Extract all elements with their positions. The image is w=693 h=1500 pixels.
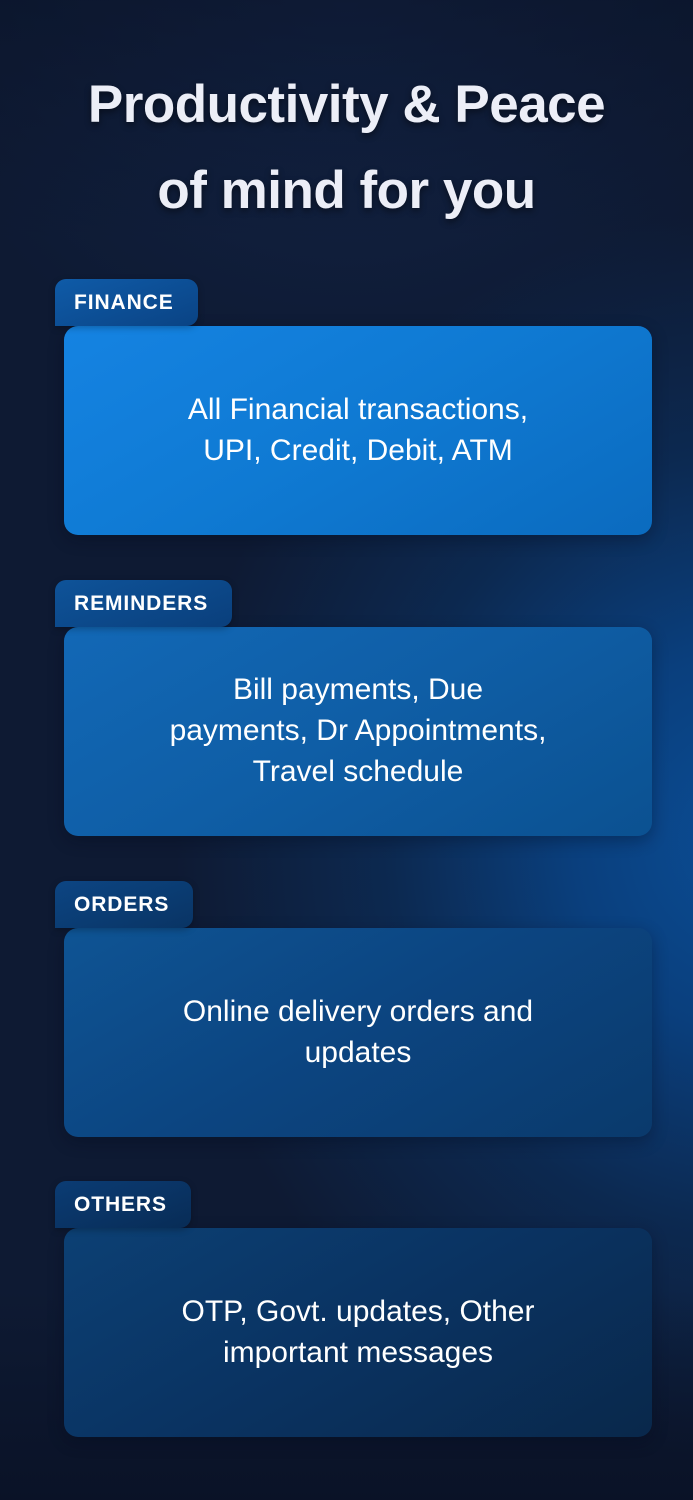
category-tab-others[interactable]: OTHERS (55, 1181, 191, 1228)
page-title: Productivity & Peace of mind for you (0, 62, 693, 234)
category-tab-reminders[interactable]: REMINDERS (55, 580, 232, 627)
category-tab-orders[interactable]: ORDERS (55, 881, 193, 928)
promo-panel: Productivity & Peace of mind for you FIN… (0, 0, 693, 1500)
category-card-finance[interactable]: All Financial transactions, UPI, Credit,… (64, 326, 652, 535)
category-section-finance: FINANCE All Financial transactions, UPI,… (55, 279, 643, 535)
category-card-reminders[interactable]: Bill payments, Due payments, Dr Appointm… (64, 627, 652, 836)
category-card-orders[interactable]: Online delivery orders and updates (64, 928, 652, 1137)
category-tab-finance[interactable]: FINANCE (55, 279, 198, 326)
category-section-orders: ORDERS Online delivery orders and update… (55, 881, 643, 1137)
category-section-reminders: REMINDERS Bill payments, Due payments, D… (55, 580, 643, 836)
category-section-others: OTHERS OTP, Govt. updates, Other importa… (55, 1181, 643, 1437)
category-card-others[interactable]: OTP, Govt. updates, Other important mess… (64, 1228, 652, 1437)
